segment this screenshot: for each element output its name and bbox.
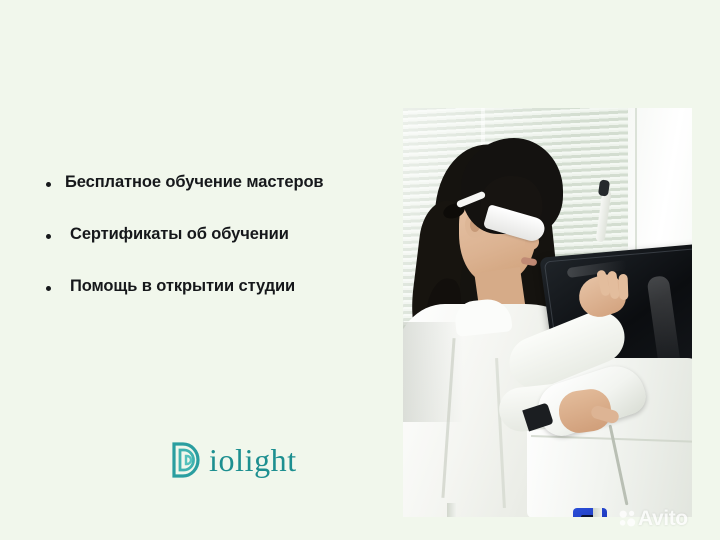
avito-watermark: Avito [619,508,688,529]
cart-post [447,503,456,517]
avito-dots-icon [619,510,636,527]
coat-shadow [403,322,463,422]
list-item: Помощь в открытии студии [46,276,416,328]
diolight-d-monogram-icon [170,440,206,480]
bullet-list: Бесплатное обучение мастеров Сертификаты… [46,172,416,328]
bullet-dot-icon [46,234,51,239]
bullet-text: Сертификаты об обучении [65,224,289,245]
bullet-dot-icon [46,182,51,187]
clinic-photo: ULTRA DIODE LASER DioLight [403,108,692,517]
finger [619,274,629,300]
slide-canvas: Бесплатное обучение мастеров Сертификаты… [0,0,720,540]
bullet-text: Помощь в открытии студии [65,276,295,297]
list-item: Сертификаты об обучении [46,224,416,276]
cart-post [593,508,602,517]
avito-wordmark: Avito [638,508,688,529]
bullet-dot-icon [46,286,51,291]
bullet-text: Бесплатное обучение мастеров [65,172,323,193]
diolight-logo: iolight [170,440,297,480]
list-item: Бесплатное обучение мастеров [46,172,416,224]
logo-wordmark: iolight [209,444,297,476]
